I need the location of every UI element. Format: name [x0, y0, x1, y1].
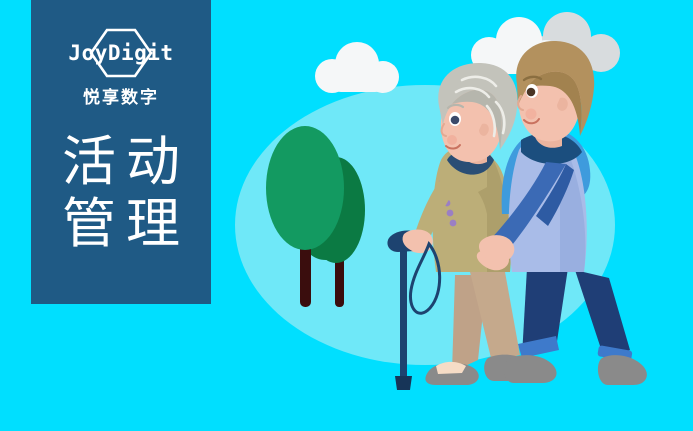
logo-wordmark: JoyDigit [46, 40, 196, 66]
cloud-left [315, 42, 399, 93]
page-title: 活动 管理 [52, 131, 190, 255]
young-man-shoe-back [598, 355, 647, 385]
title-panel: JoyDigit 悦享数字 活动 管理 [31, 0, 211, 304]
elderly-woman-shoe-back [425, 362, 478, 385]
poster-canvas: JoyDigit 悦享数字 活动 管理 [0, 0, 693, 431]
young-man-shoe-front [504, 355, 557, 383]
logo-subtitle: 悦享数字 [83, 87, 159, 109]
brand-logo: JoyDigit [46, 28, 196, 80]
page-title-line-1: 活动 [52, 131, 190, 193]
page-title-line-2: 管理 [52, 193, 190, 255]
